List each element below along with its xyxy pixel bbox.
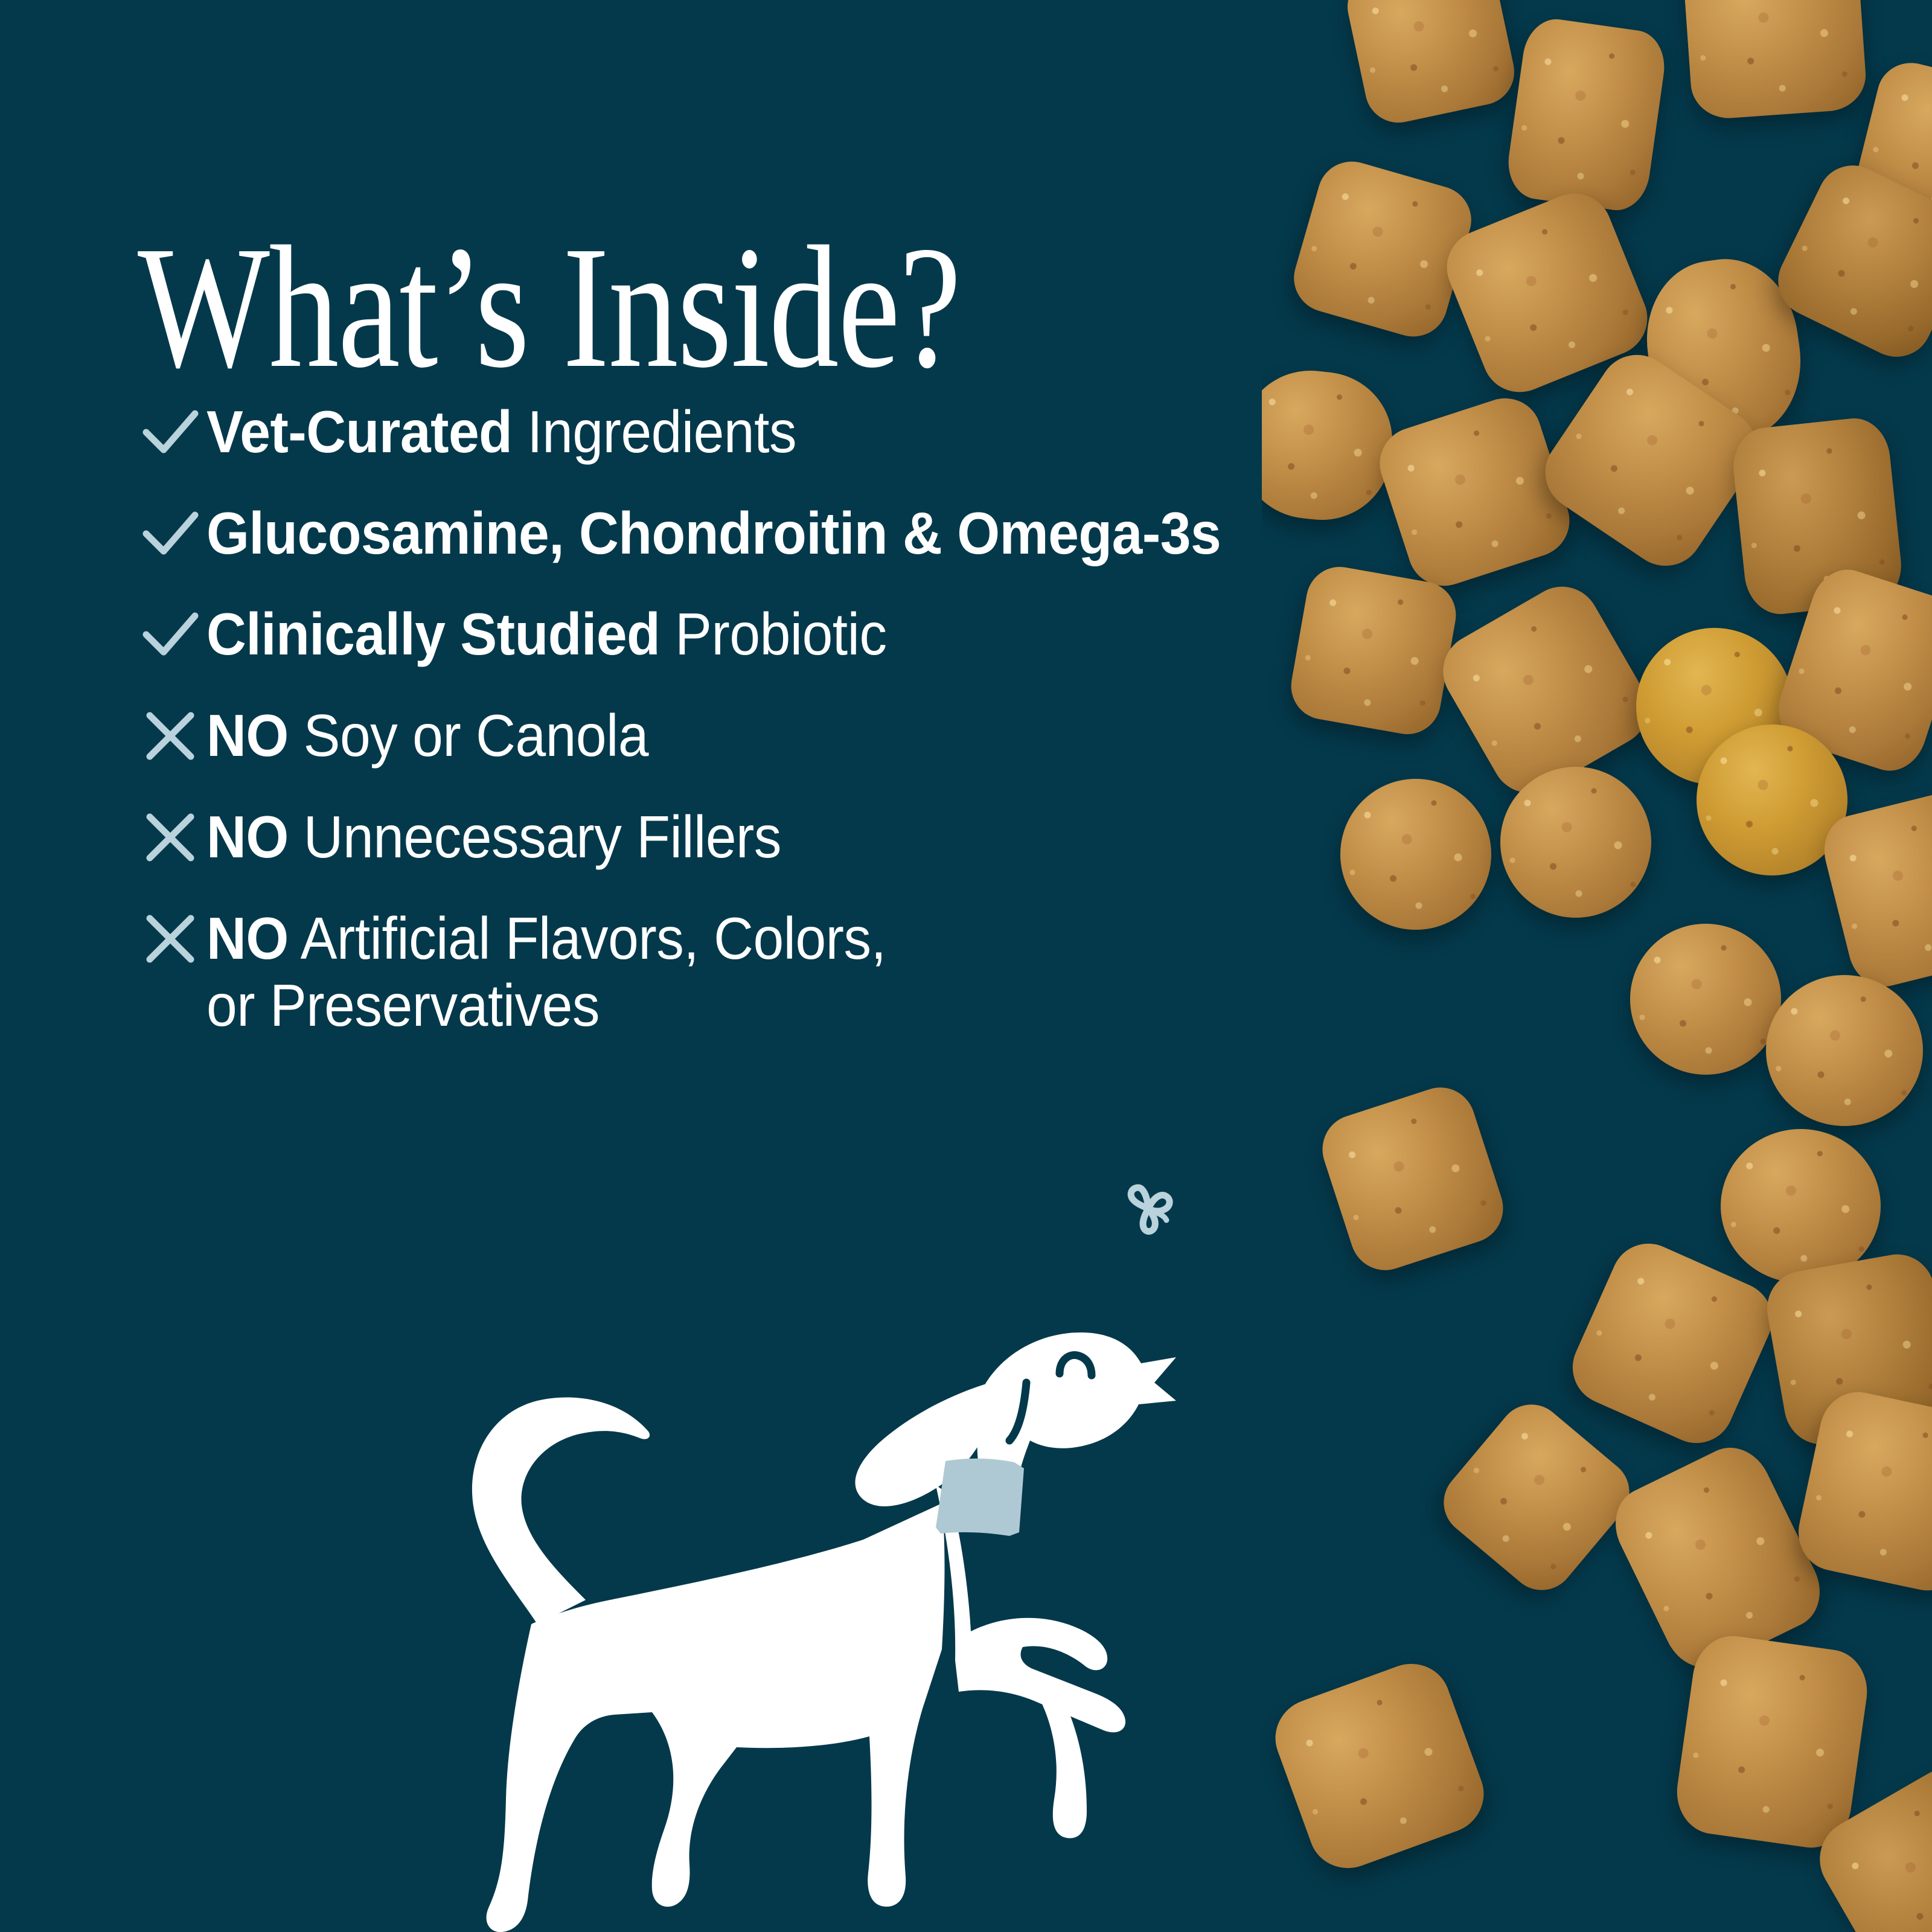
- x-icon: [134, 804, 206, 870]
- treat-chew: [1503, 15, 1669, 214]
- benefit-item-label: NO Soy or Canola: [206, 702, 1318, 770]
- check-icon: [134, 601, 206, 667]
- benefit-item-rest: Ingredients: [512, 398, 796, 465]
- benefit-item-bold: NO: [206, 905, 289, 971]
- benefit-item-no-soy: NO Soy or Canola: [134, 702, 1402, 770]
- benefit-item-no-artificial: NO Artificial Flavors, Colors, or Preser…: [134, 905, 1402, 1040]
- benefit-item-rest: Probiotic: [660, 601, 886, 667]
- benefit-item-rest: Soy or Canola: [289, 702, 648, 769]
- treat-chew: [1630, 924, 1781, 1075]
- treat-chew: [1682, 0, 1868, 121]
- benefit-item-bold: NO: [206, 804, 289, 870]
- benefit-item-label: NO Artificial Flavors, Colors, or Preser…: [206, 905, 1318, 1040]
- treat-chew: [1342, 0, 1521, 129]
- treat-chew: [1286, 153, 1479, 345]
- benefit-item-no-fillers: NO Unnecessary Fillers: [134, 804, 1402, 871]
- benefit-item-label: Vet-Curated Ingredients: [206, 398, 1318, 466]
- treat-chew: [1264, 1652, 1494, 1879]
- benefit-item-label: NO Unnecessary Fillers: [206, 804, 1318, 871]
- benefit-item-label: Glucosamine, Chondroitin & Omega-3s: [206, 500, 1318, 568]
- treat-chew: [1500, 767, 1651, 918]
- x-icon: [134, 702, 206, 769]
- benefit-item-probiotic: Clinically Studied Probiotic: [134, 601, 1402, 668]
- walking-dog-illustration: [338, 1201, 1195, 1932]
- treat-chew: [1721, 1129, 1881, 1283]
- benefit-item-bold: Vet-Curated: [206, 398, 512, 465]
- treat-chew: [1671, 1631, 1872, 1852]
- check-icon: [134, 500, 206, 566]
- benefit-item-bold: Glucosamine, Chondroitin & Omega-3s: [206, 500, 1221, 566]
- treat-chew: [1430, 573, 1662, 807]
- x-icon: [134, 905, 206, 971]
- benefit-item-bold: Clinically Studied: [206, 601, 660, 667]
- promo-graphic: What’s Inside? Vet-Curated Ingredients G…: [0, 0, 1932, 1932]
- benefit-list: Vet-Curated Ingredients Glucosamine, Cho…: [134, 398, 1402, 1073]
- benefit-item-rest: Unnecessary Fillers: [289, 804, 781, 870]
- benefit-item-rest: Artificial Flavors, Colors, or Preservat…: [206, 905, 886, 1039]
- check-icon: [134, 398, 206, 465]
- treat-chew: [1766, 975, 1923, 1126]
- benefit-item-label: Clinically Studied Probiotic: [206, 601, 1318, 668]
- treat-chew: [1313, 1078, 1512, 1279]
- treat-chew: [1430, 1391, 1643, 1604]
- benefit-item-bold: NO: [206, 702, 289, 769]
- page-title: What’s Inside?: [138, 220, 961, 395]
- benefit-item-glucosamine: Glucosamine, Chondroitin & Omega-3s: [134, 500, 1402, 568]
- benefit-item-vet-curated: Vet-Curated Ingredients: [134, 398, 1402, 466]
